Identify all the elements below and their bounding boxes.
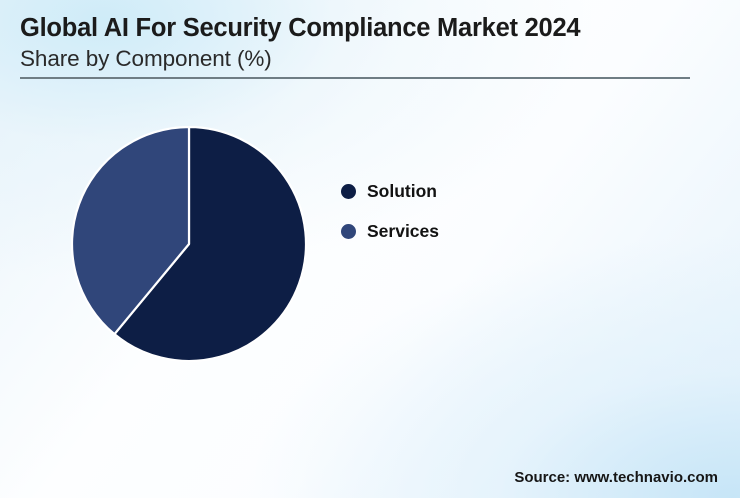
chart-legend: SolutionServices [341, 171, 571, 251]
title-divider [20, 77, 690, 79]
circle-marker-icon [341, 184, 356, 199]
source-attribution: Source: www.technavio.com [514, 469, 718, 486]
legend-item[interactable]: Solution [341, 171, 571, 211]
pie-chart-svg [71, 126, 307, 362]
page-title: Global AI For Security Compliance Market… [20, 12, 692, 44]
legend-item-label: Solution [367, 182, 437, 200]
chart-header: Global AI For Security Compliance Market… [20, 12, 692, 74]
pie-chart [71, 126, 307, 362]
legend-item-label: Services [367, 222, 439, 240]
legend-item[interactable]: Services [341, 211, 571, 251]
circle-marker-icon [341, 224, 356, 239]
page-subtitle: Share by Component (%) [20, 44, 692, 74]
chart-page: Global AI For Security Compliance Market… [0, 0, 740, 498]
